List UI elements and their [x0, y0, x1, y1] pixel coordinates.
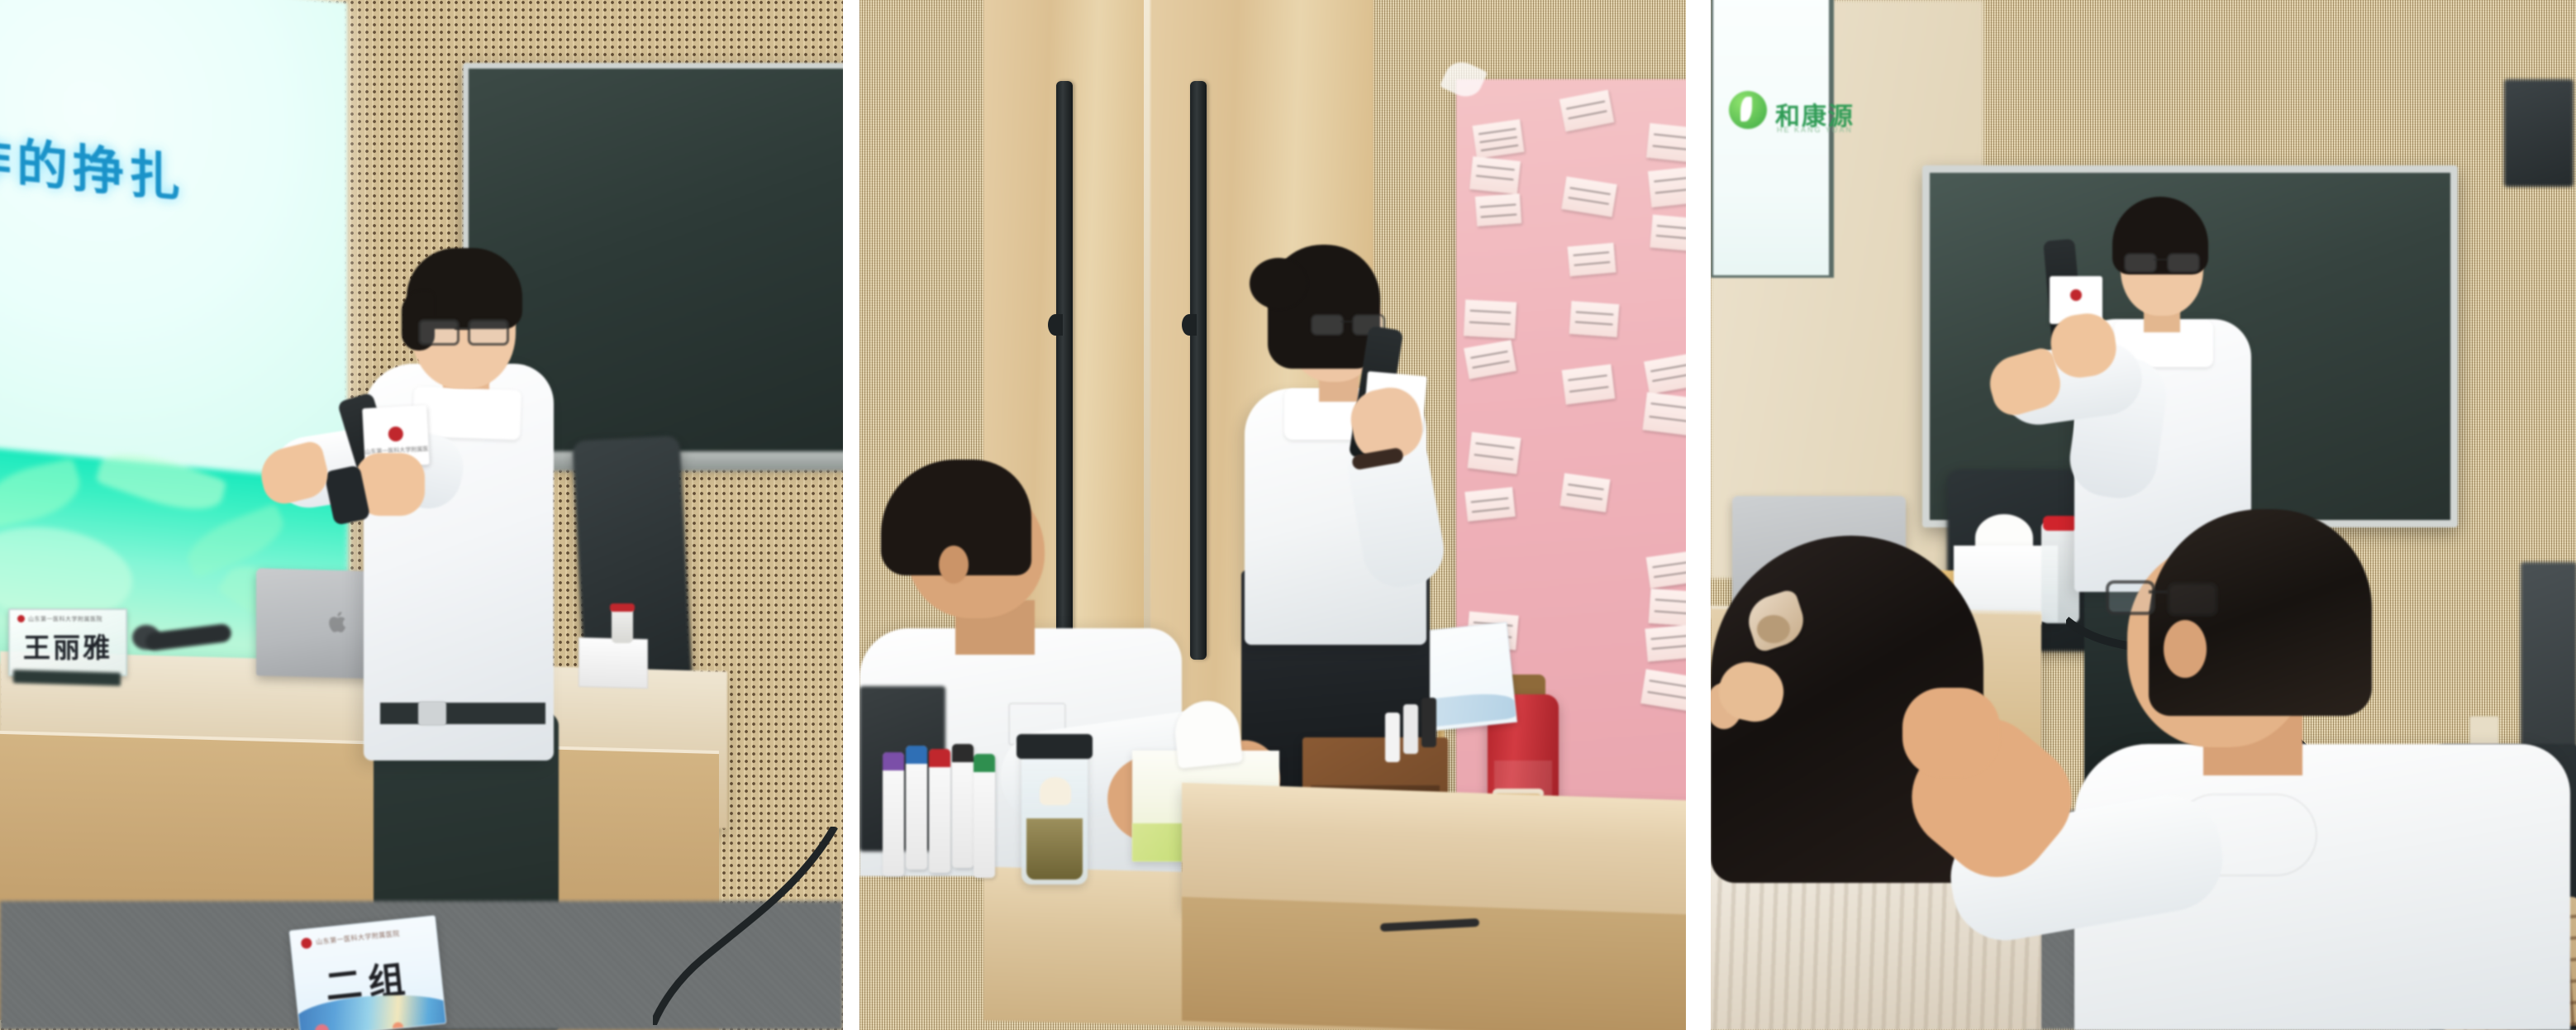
- panel-divider-2: [1686, 0, 1711, 1030]
- nameplate-org-text: 山东第一医科大学附属医院: [28, 615, 102, 623]
- specimen-jar-contents: [1026, 818, 1083, 880]
- speaker-hair-bun: [1250, 258, 1307, 309]
- water-bottle-cap: [2043, 516, 2078, 531]
- group-card-org-text: 山东第一医科大学附属医院: [316, 929, 401, 947]
- photo-collage: 作的挣扎 山东第一医科大学附属医院 王丽雅: [0, 0, 2576, 1030]
- paper-cup-lid: [610, 603, 635, 612]
- ceiling-speaker: [2504, 79, 2574, 187]
- middle-panel-woman-speaking: 消防: [859, 0, 1686, 1030]
- nameplate-logo-icon: [17, 615, 25, 622]
- group-number-card: 山东第一医科大学附属医院 二组: [289, 915, 447, 1030]
- meeting-table-front: [1182, 897, 1686, 1030]
- apple-logo-icon: [327, 610, 349, 636]
- presenter-collar: [412, 387, 521, 441]
- door-knob-right[interactable]: [1182, 314, 1197, 336]
- left-panel-presenter-at-desk: 作的挣扎 山东第一医科大学附属医院 王丽雅: [0, 0, 843, 1030]
- door-knob-left[interactable]: [1048, 314, 1063, 336]
- specimen-jar-label: [1040, 777, 1071, 805]
- group-card-logo-icon: [301, 937, 312, 949]
- desk-nameplate: 山东第一医科大学附属医院 王丽雅: [8, 608, 127, 676]
- brand-logo-subtitle: HE KANG YUAN: [1777, 126, 1853, 134]
- paper-cup: [612, 608, 633, 643]
- presenter-belt-buckle: [418, 701, 446, 726]
- attendee-man-fist: [1902, 688, 2000, 777]
- specimen-jar-lid: [1017, 734, 1093, 759]
- white-box: [579, 637, 648, 689]
- door-handle-right[interactable]: [1190, 81, 1207, 660]
- attendee-man-ear: [2164, 620, 2207, 678]
- floor-cable: [653, 827, 843, 1025]
- nameplate-name-text: 王丽雅: [23, 626, 112, 665]
- hair-clip-inner: [1757, 615, 1790, 643]
- attendee-ear: [939, 546, 969, 584]
- brand-logo-icon: [1729, 91, 1767, 129]
- microphone-flag-logo-icon: [388, 427, 403, 442]
- presenter-belt: [380, 703, 545, 724]
- marker-pens: [883, 737, 995, 880]
- projection-screen: [1711, 0, 1834, 278]
- right-panel-presenter-with-audience: 和康源 HE KANG YUAN: [1711, 0, 2576, 1030]
- presenter-glasses-icon: [2124, 253, 2202, 271]
- presenter-glasses-icon: [418, 319, 514, 342]
- attendee-man-glasses-icon: [2106, 580, 2213, 613]
- panel-divider-1: [843, 0, 859, 1030]
- door-handle-left[interactable]: [1056, 81, 1073, 660]
- microphone-flag-logo-icon: [2070, 289, 2082, 301]
